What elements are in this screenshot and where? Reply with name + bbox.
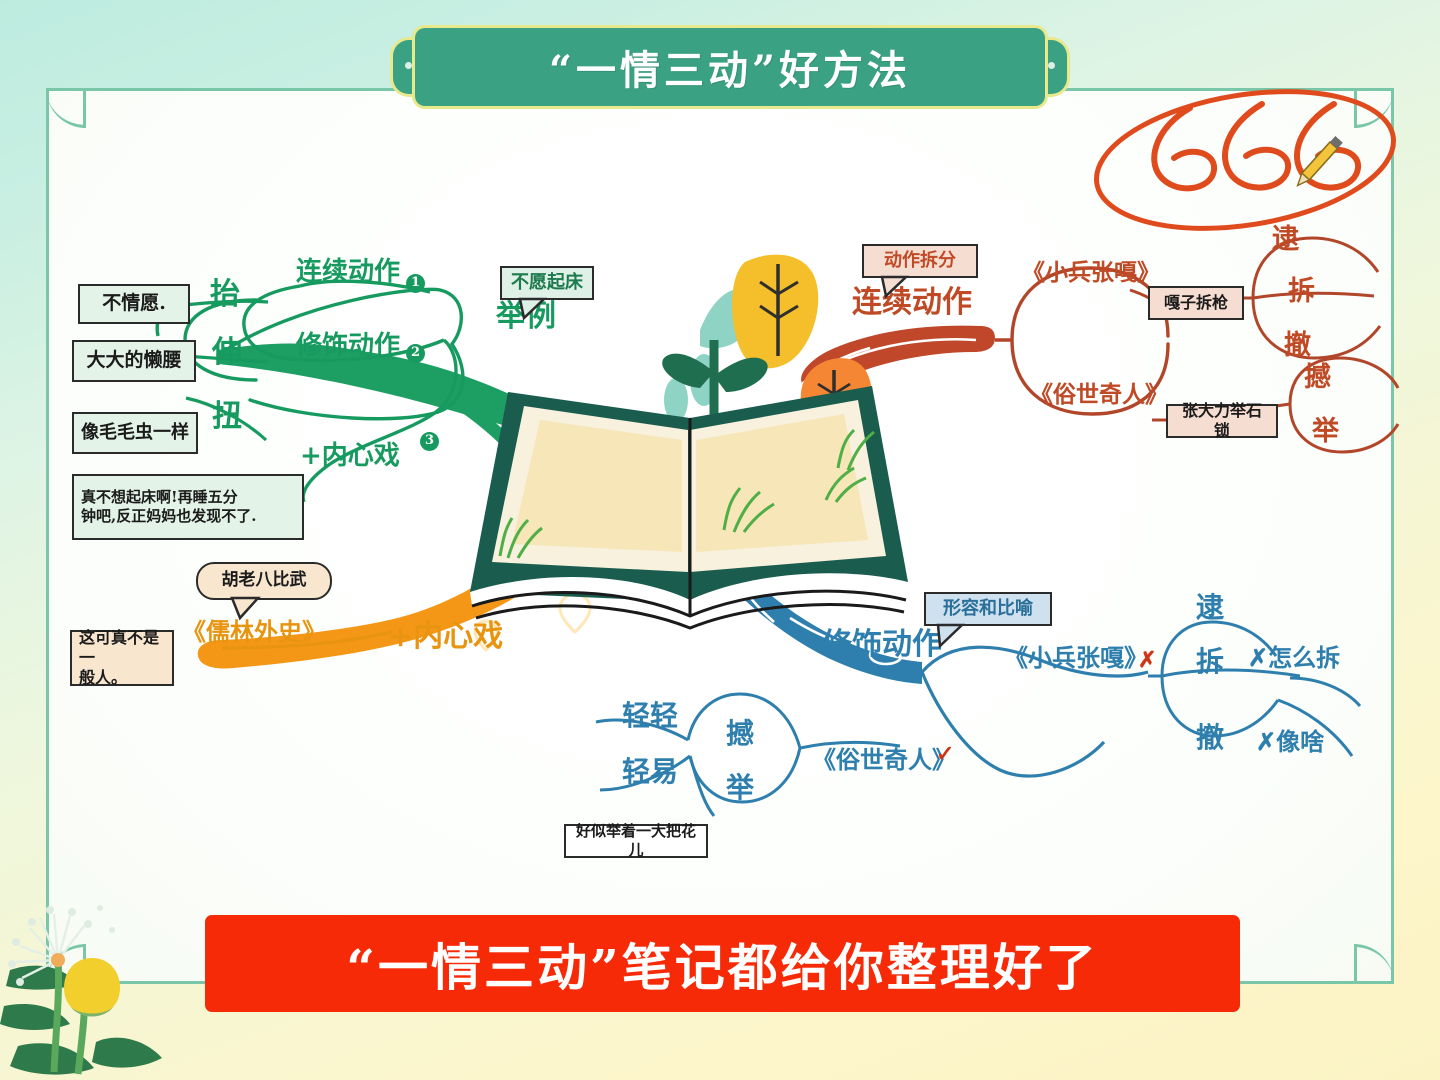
green-numbered-label-3: +内心戏 <box>300 442 400 472</box>
orange-bubble: 胡老八比武 <box>196 562 332 600</box>
blue-book-title-2: 《俗世奇人》 <box>812 746 956 774</box>
green-branch-title: 举例 <box>496 300 556 335</box>
green-numbered-label-2: 修饰动作 <box>296 332 400 362</box>
dandelion-icon <box>0 810 190 1080</box>
orange-branch-title: +内心戏 <box>388 620 503 655</box>
blue-check-mark-2: ✓ <box>936 742 954 767</box>
blue-verb-5: 举 <box>726 772 754 804</box>
mindmap-canvas: “一情三动”好方法 <box>0 0 1440 1080</box>
corner-bottom-right <box>1354 944 1394 984</box>
green-verb-1: 抬 <box>210 278 240 313</box>
blue-example-box: 好似举着一大把花儿 <box>564 824 708 858</box>
blue-book-title-1: 《小兵张嘎》 <box>1004 644 1148 672</box>
green-badge-1: 1 <box>406 274 425 293</box>
red-callout-box: 动作拆分 <box>862 244 978 278</box>
bottom-banner-text: “一情三动”笔记都给你整理好了 <box>346 928 1099 1000</box>
green-numbered-label-1: 连续动作 <box>296 258 400 288</box>
orange-example-box: 这可真不是一 般人。 <box>70 630 174 686</box>
red-verb-2-1: 撼 <box>1304 362 1331 393</box>
green-verb-2: 伸 <box>212 336 242 371</box>
title-banner: “一情三动”好方法 <box>415 28 1045 106</box>
green-modifier-box-1: 不情愿. <box>78 284 190 324</box>
blue-callout-box: 形容和比喻 <box>924 592 1052 626</box>
blue-question-1: ✗怎么拆 <box>1248 644 1340 672</box>
green-modifier-box-2: 大大的懒腰 <box>72 340 196 382</box>
blue-verb-2: 拆 <box>1196 646 1224 678</box>
banner-dot-left <box>405 62 412 69</box>
banner-dot-right <box>1048 62 1055 69</box>
page-title: “一情三动”好方法 <box>415 28 1045 106</box>
corner-top-left <box>46 88 86 128</box>
red-verb-1-1: 逮 <box>1272 224 1299 255</box>
green-badge-2: 2 <box>406 344 425 363</box>
blue-modifier-2: 轻易 <box>622 756 678 788</box>
blue-modifier-1: 轻轻 <box>622 700 678 732</box>
red-verb-2-2: 举 <box>1312 416 1339 447</box>
blue-verb-4: 撼 <box>726 718 754 750</box>
bottom-banner: “一情三动”笔记都给你整理好了 <box>205 915 1240 1012</box>
red-example-box-1: 嘎子拆枪 <box>1148 286 1244 320</box>
green-callout-box: 不愿起床 <box>500 266 594 300</box>
green-inner-monologue-box: 真不想起床啊!再睡五分 钟吧,反正妈妈也发现不了. <box>72 474 304 540</box>
blue-cross-mark-1: ✗ <box>1138 648 1156 673</box>
red-book-title-2: 《俗世奇人》 <box>1030 382 1168 408</box>
blue-verb-1: 逮 <box>1196 592 1224 624</box>
blue-question-2: ✗像啥 <box>1256 728 1324 756</box>
red-branch-title: 连续动作 <box>852 286 972 321</box>
red-verb-1-3: 撤 <box>1284 330 1311 361</box>
red-example-box-2: 张大力举石锁 <box>1166 404 1278 438</box>
red-verb-1-2: 拆 <box>1288 276 1315 307</box>
orange-book-title: 《儒林外史》 <box>182 618 326 646</box>
green-badge-3: 3 <box>420 432 439 451</box>
green-modifier-box-3: 像毛毛虫一样 <box>72 412 198 454</box>
red-book-title-1: 《小兵张嘎》 <box>1022 260 1160 286</box>
green-verb-3: 扭 <box>212 400 242 435</box>
corner-top-right <box>1354 88 1394 128</box>
blue-branch-title: 修饰动作 <box>822 628 942 663</box>
blue-verb-3: 撤 <box>1196 722 1224 754</box>
